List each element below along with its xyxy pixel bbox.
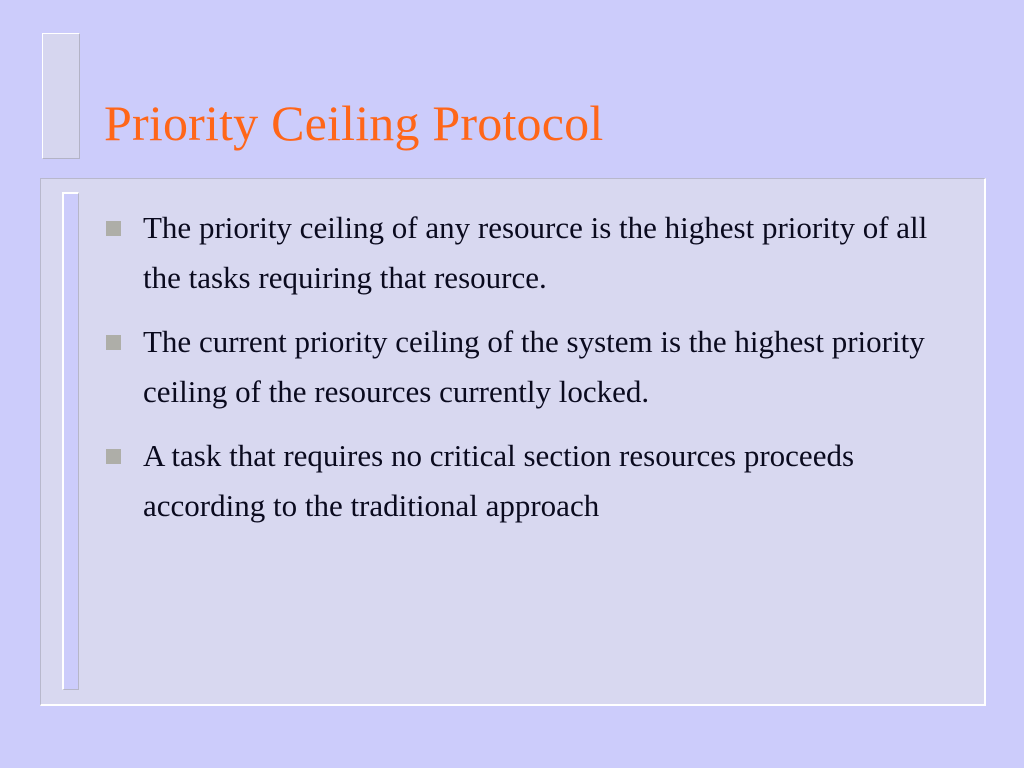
list-item-label: The current priority ceiling of the syst… bbox=[143, 317, 933, 417]
square-bullet-icon bbox=[106, 335, 121, 350]
list-item: The current priority ceiling of the syst… bbox=[104, 317, 964, 417]
square-bullet-icon bbox=[106, 221, 121, 236]
presentation-slide: Priority Ceiling Protocol The priority c… bbox=[0, 0, 1024, 768]
square-bullet-icon bbox=[106, 449, 121, 464]
page-title: Priority Ceiling Protocol bbox=[104, 92, 984, 154]
list-item: A task that requires no critical section… bbox=[104, 431, 964, 531]
list-item-label: The priority ceiling of any resource is … bbox=[143, 203, 943, 303]
title-decoration-bar bbox=[42, 33, 80, 159]
list-item-label: A task that requires no critical section… bbox=[143, 431, 933, 531]
bullet-list: The priority ceiling of any resource is … bbox=[104, 203, 964, 531]
list-item: The priority ceiling of any resource is … bbox=[104, 203, 964, 303]
panel-accent-bar bbox=[62, 192, 79, 690]
